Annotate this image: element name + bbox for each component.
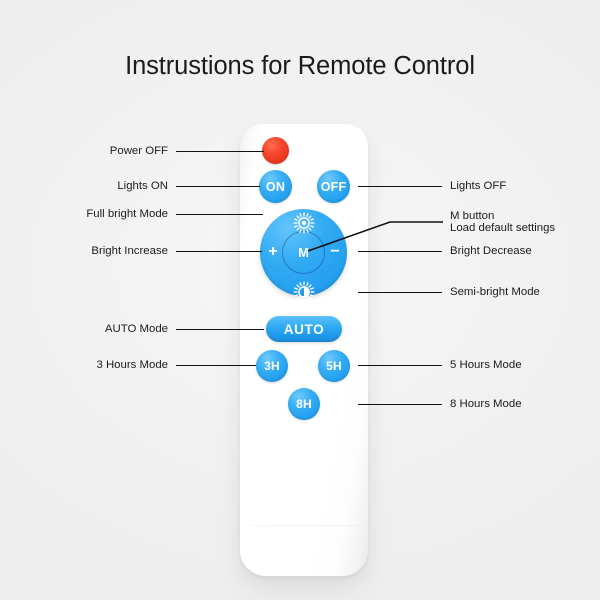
- power-off-button[interactable]: [262, 137, 289, 164]
- callout-leader-semi-bright: [358, 292, 442, 293]
- callout-leader-three-hours: [176, 365, 256, 366]
- callout-leader-m-button: [300, 210, 450, 260]
- callout-label-full-bright: Full bright Mode: [40, 207, 168, 221]
- callout-label-five-hours: 5 Hours Mode: [450, 358, 600, 372]
- page-title: Instrustions for Remote Control: [0, 52, 600, 81]
- callout-label-bright-decrease: Bright Decrease: [450, 244, 600, 258]
- callout-leader-lights-on: [176, 186, 260, 187]
- five-hours-button[interactable]: 5H: [318, 350, 350, 382]
- bright-increase-button[interactable]: +: [264, 241, 282, 263]
- three-hours-button[interactable]: 3H: [256, 350, 288, 382]
- callout-label-auto-mode: AUTO Mode: [66, 322, 168, 336]
- callout-leader-eight-hours: [358, 404, 442, 405]
- callout-label-power-off: Power OFF: [68, 144, 168, 158]
- eight-hours-button[interactable]: 8H: [288, 388, 320, 420]
- auto-mode-button[interactable]: AUTO: [266, 316, 342, 342]
- callout-label-lights-off: Lights OFF: [450, 179, 590, 193]
- callout-label-three-hours: 3 Hours Mode: [58, 358, 168, 372]
- callout-leader-bright-decrease: [358, 251, 442, 252]
- callout-leader-full-bright: [176, 214, 263, 215]
- callout-leader-bright-increase: [176, 251, 262, 252]
- callout-leader-five-hours: [358, 365, 442, 366]
- callout-label-eight-hours: 8 Hours Mode: [450, 397, 600, 411]
- lights-off-button[interactable]: OFF: [317, 170, 350, 203]
- callout-label-bright-increase: Bright Increase: [48, 244, 168, 258]
- callout-label-lights-on: Lights ON: [68, 179, 168, 193]
- callout-label-semi-bright: Semi-bright Mode: [450, 285, 600, 299]
- callout-leader-lights-off: [358, 186, 442, 187]
- lights-on-button[interactable]: ON: [259, 170, 292, 203]
- callout-label-m-button-sub: Load default settings: [450, 221, 600, 235]
- remote-body-seam: [241, 525, 367, 526]
- callout-leader-auto-mode: [176, 329, 264, 330]
- sun-semi-bright-icon[interactable]: [293, 281, 315, 303]
- infographic-canvas: Instrustions for Remote Control ON OFF M…: [0, 0, 600, 600]
- callout-leader-power-off: [176, 151, 264, 152]
